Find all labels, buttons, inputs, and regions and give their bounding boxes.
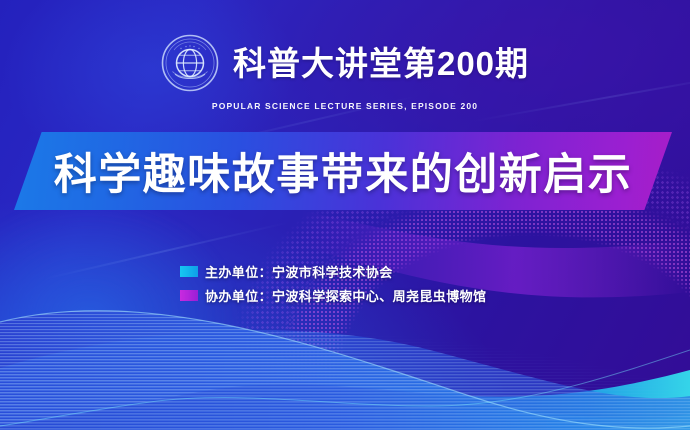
magenta-marker-icon (180, 290, 198, 301)
organizer-host-text: 主办单位：宁波市科学技术协会 (205, 262, 393, 281)
organizer-co-text: 协办单位：宁波科学探索中心、周尧昆虫博物馆 (205, 286, 486, 305)
poster-header: 科普大讲堂第200期 POPULAR SCIENCE LECTURE SERIE… (0, 34, 690, 111)
organizer-block: 主办单位：宁波市科学技术协会 协办单位：宁波科学探索中心、周尧昆虫博物馆 (180, 262, 486, 305)
poster-canvas: 科普大讲堂第200期 POPULAR SCIENCE LECTURE SERIE… (0, 0, 690, 430)
cyan-marker-icon (180, 266, 198, 277)
organizer-line-co: 协办单位：宁波科学探索中心、周尧昆虫博物馆 (180, 286, 486, 305)
header-title-row: 科普大讲堂第200期 (161, 34, 529, 92)
wave-line-texture (0, 230, 690, 430)
header-subtitle: POPULAR SCIENCE LECTURE SERIES, EPISODE … (212, 101, 478, 111)
globe-emblem-logo-icon (161, 34, 219, 92)
main-title-text: 科学趣味故事带来的创新启示 (14, 132, 672, 210)
header-title: 科普大讲堂第200期 (233, 47, 529, 80)
organizer-line-host: 主办单位：宁波市科学技术协会 (180, 262, 486, 281)
